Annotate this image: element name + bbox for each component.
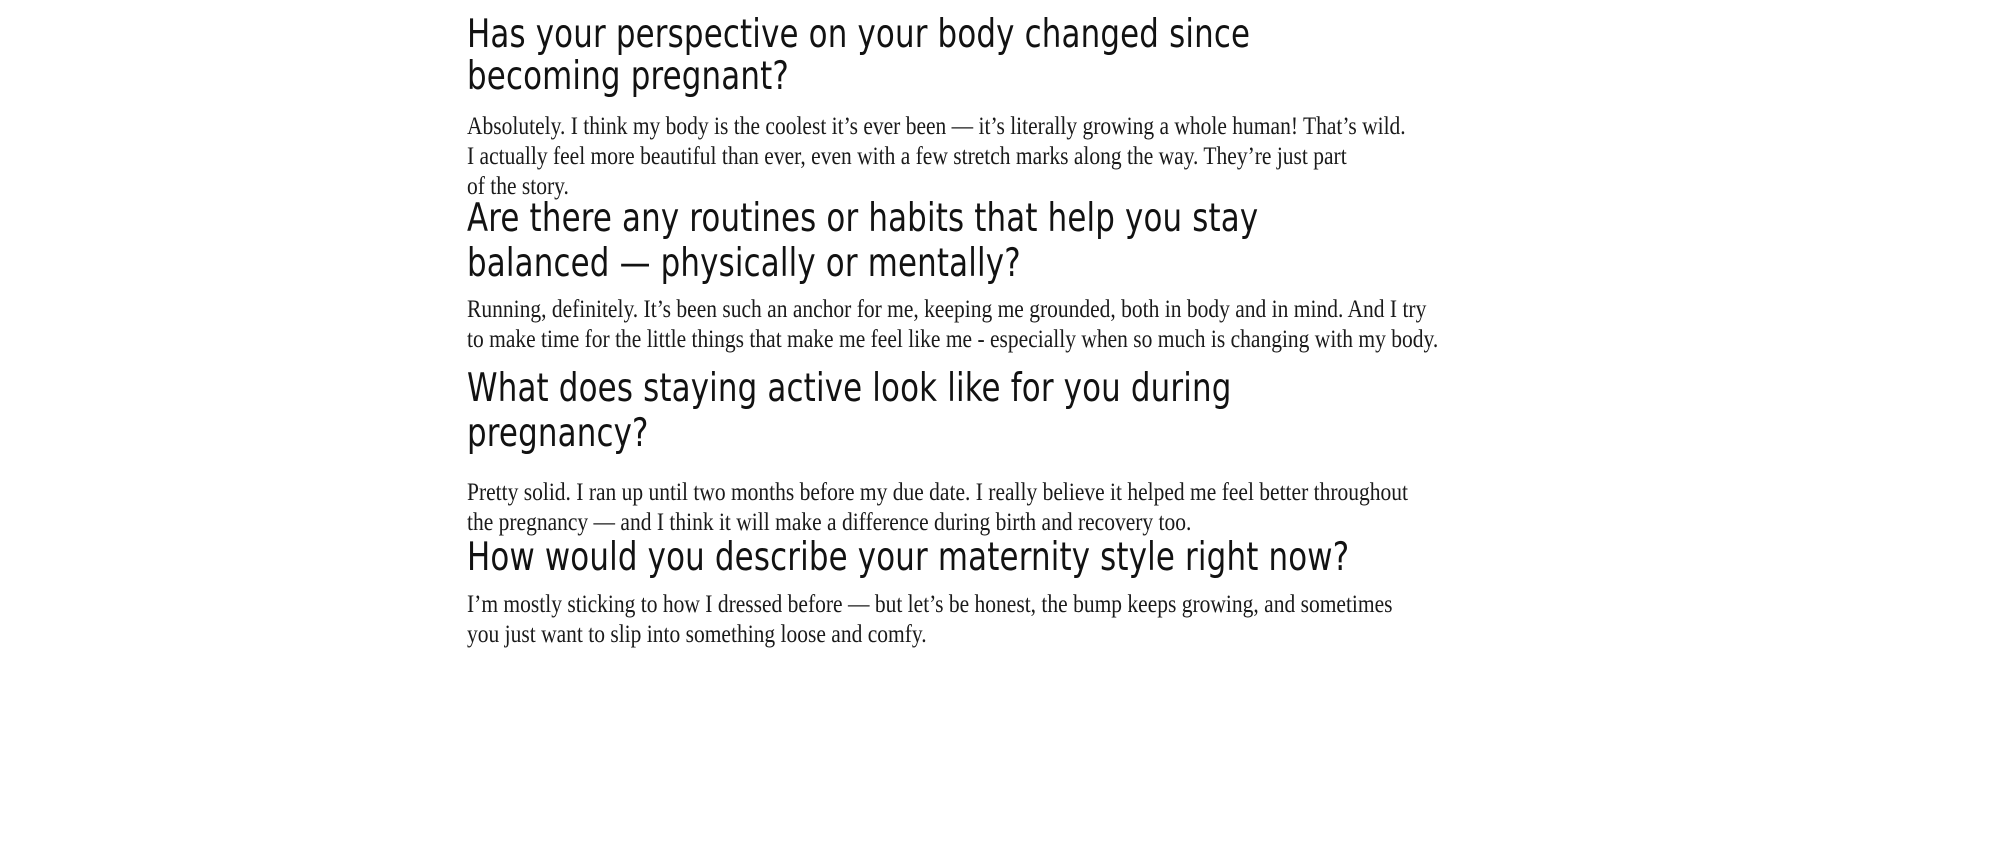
- document-page: Has your perspective on your body change…: [0, 0, 2000, 842]
- question-heading-2: Are there any routines or habits that he…: [467, 196, 1400, 286]
- question-heading-4: How would you describe your maternity st…: [467, 535, 1365, 580]
- answer-text-3: Pretty solid. I ran up until two months …: [467, 478, 1482, 538]
- answer-text-4: I’m mostly sticking to how I dressed bef…: [467, 590, 1456, 650]
- question-heading-1: Has your perspective on your body change…: [467, 14, 1347, 98]
- qa-block-4: How would you describe your maternity st…: [467, 535, 1617, 650]
- qa-block-3: What does staying active look like for y…: [467, 366, 1617, 538]
- qa-block-1: Has your perspective on your body change…: [467, 14, 1567, 202]
- answer-text-1: Absolutely. I think my body is the coole…: [467, 112, 1465, 202]
- question-heading-3: What does staying active look like for y…: [467, 366, 1417, 456]
- answer-text-2: Running, definitely. It’s been such an a…: [467, 295, 1533, 355]
- qa-block-2: Are there any routines or habits that he…: [467, 196, 1617, 355]
